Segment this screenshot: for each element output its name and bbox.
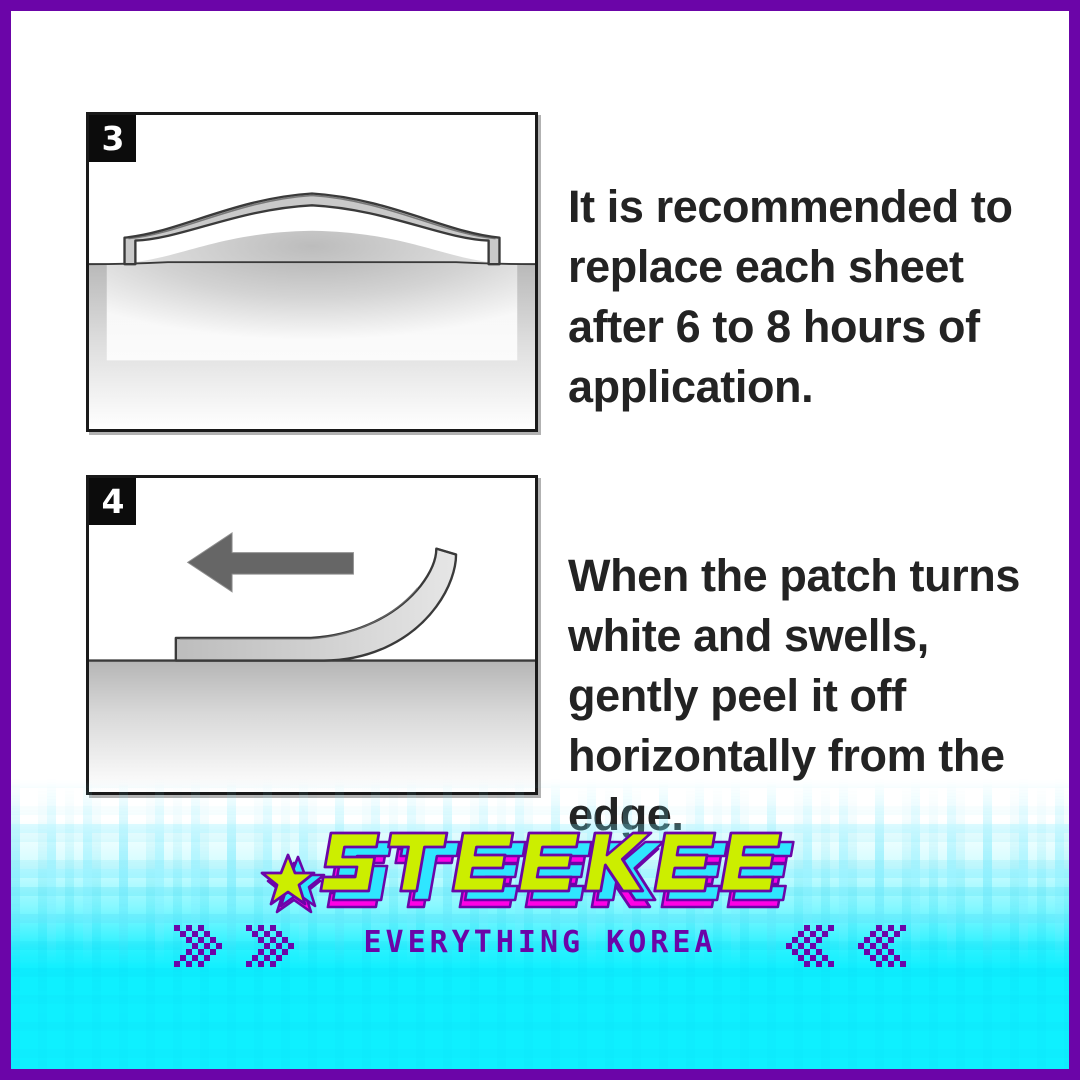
panel-number-badge: 3	[89, 115, 136, 162]
brand-logo: STEEKEE	[11, 827, 1069, 927]
instruction-panel-4: 4	[86, 475, 538, 795]
poster-content: 3	[11, 11, 1069, 1069]
panel-4-illustration	[89, 478, 535, 792]
chevrons-left-icon	[174, 925, 294, 967]
instruction-text-3: It is recommended to replace each sheet …	[568, 177, 1068, 416]
panel-3-illustration	[89, 115, 535, 429]
tagline-text: EVERYTHING KOREA	[364, 925, 717, 960]
instruction-panel-3: 3	[86, 112, 538, 432]
logo-letters	[318, 833, 795, 907]
brand-tagline-row: EVERYTHING KOREA	[11, 919, 1069, 967]
panel-number-badge: 4	[89, 478, 136, 525]
chevrons-right-icon	[786, 925, 906, 967]
star-icon	[262, 855, 324, 912]
poster-root: 3	[0, 0, 1080, 1080]
peel-direction-arrow	[188, 533, 354, 592]
brand-footer: STEEKEE	[11, 779, 1069, 1069]
